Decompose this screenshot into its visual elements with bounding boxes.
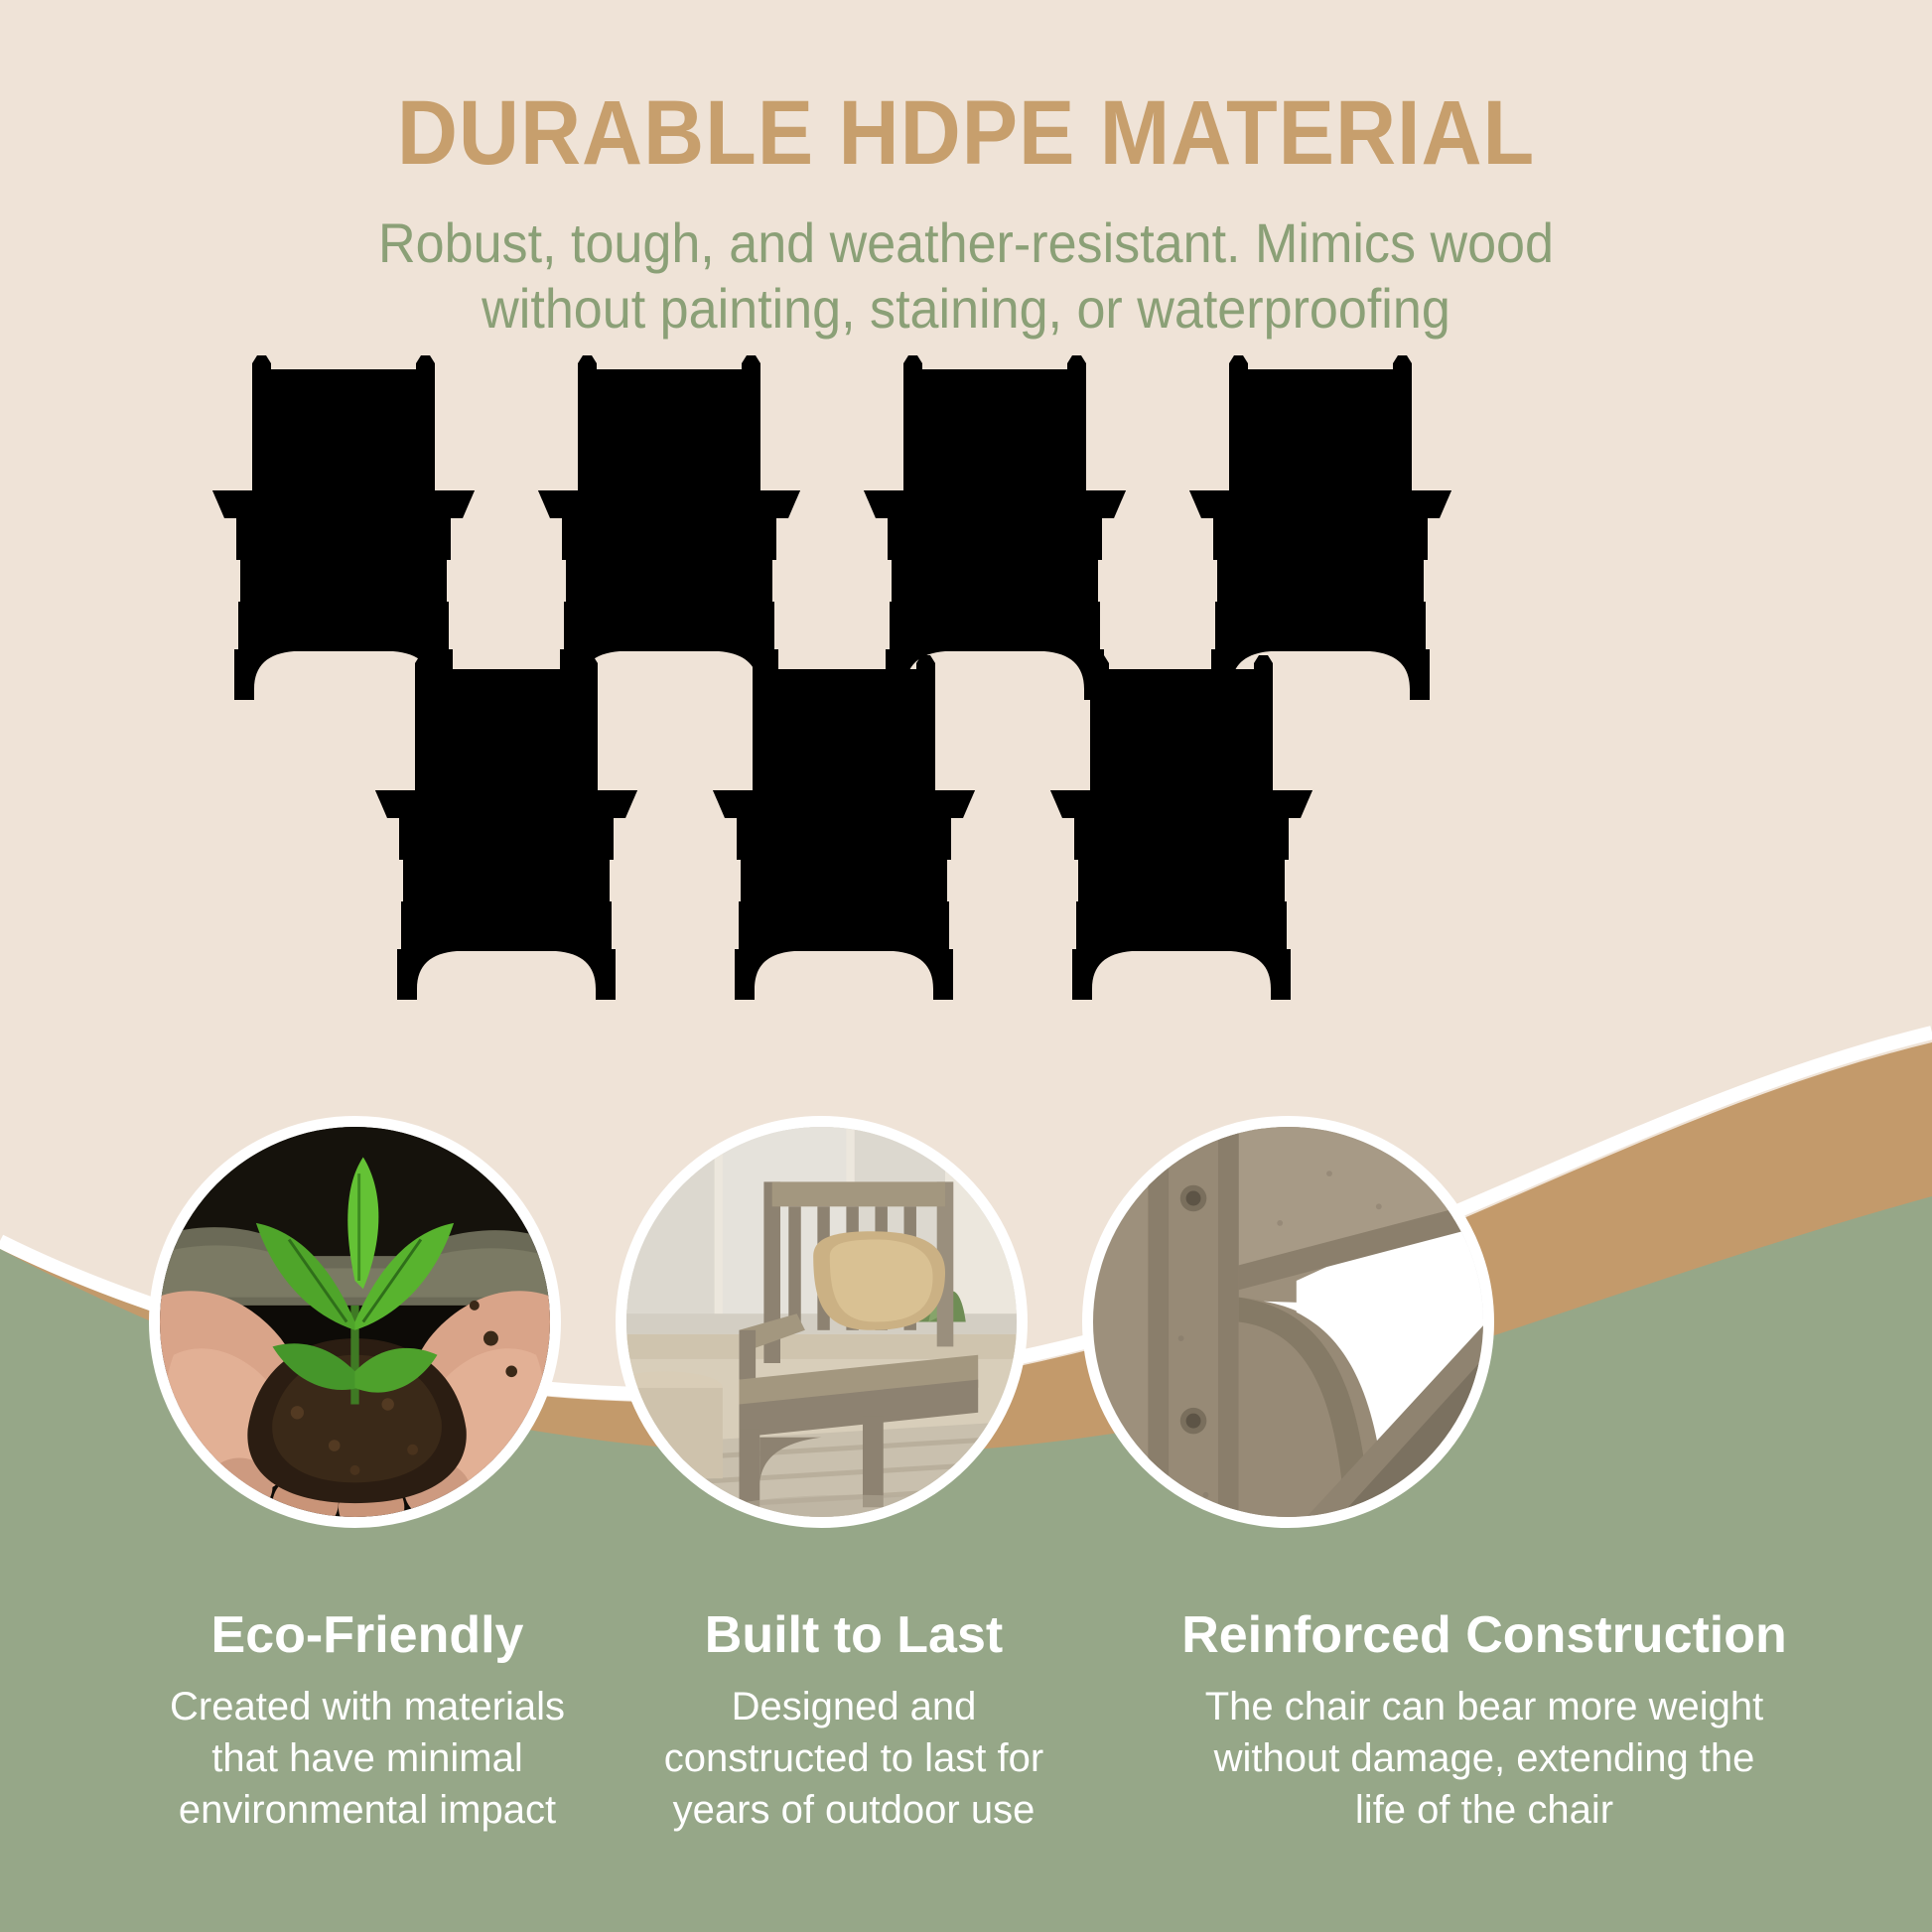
- seedling-in-hands-photo: [149, 1116, 561, 1528]
- feature-caption-eco-friendly: Eco-Friendly Created with materials that…: [109, 1608, 625, 1836]
- feature-body-line: The chair can bear more weight: [1092, 1681, 1876, 1732]
- subtitle-line-1: Robust, tough, and weather-resistant. Mi…: [378, 211, 1554, 274]
- feature-body-line: Designed and: [635, 1681, 1072, 1732]
- chair-swatch-brown[interactable]: .brown .bd{fill:#5b3a33}.brown .sh{fill:…: [520, 331, 818, 658]
- feature-body-reinforced-construction: The chair can bear more weight without d…: [1092, 1663, 1876, 1836]
- feature-title-built-to-last: Built to Last: [635, 1608, 1072, 1663]
- patio-chair-photo: [616, 1116, 1028, 1528]
- feature-body-eco-friendly: Created with materials that have minimal…: [109, 1663, 625, 1836]
- chair-swatch-black[interactable]: .black .bd{fill:#232323}.black .sh{fill:…: [195, 331, 492, 658]
- feature-body-line: life of the chair: [1092, 1784, 1876, 1836]
- feature-caption-reinforced-construction: Reinforced Construction The chair can be…: [1092, 1608, 1876, 1836]
- infographic-canvas: DURABLE HDPE MATERIAL Robust, tough, and…: [0, 0, 1932, 1932]
- chair-swatch-dark-gray[interactable]: .dgray .bd{fill:#434d51}.dgray .sh{fill:…: [846, 331, 1144, 658]
- chair-swatch-white[interactable]: .wht .bd{fill:#fafafa}.wht .sh{fill:#e8e…: [695, 630, 993, 958]
- feature-body-built-to-last: Designed and constructed to last for yea…: [635, 1663, 1072, 1836]
- feature-body-line: that have minimal: [109, 1732, 625, 1784]
- feature-body-line: environmental impact: [109, 1784, 625, 1836]
- feature-caption-row: Eco-Friendly Created with materials that…: [0, 1608, 1932, 1932]
- subtitle-line-2: without painting, staining, or waterproo…: [68, 276, 1864, 342]
- feature-image-row: [0, 1140, 1932, 1567]
- feature-title-reinforced-construction: Reinforced Construction: [1092, 1608, 1876, 1663]
- reinforced-joint-closeup-photo: [1082, 1116, 1494, 1528]
- page-title: DURABLE HDPE MATERIAL: [77, 0, 1855, 179]
- feature-title-eco-friendly: Eco-Friendly: [109, 1608, 625, 1663]
- feature-body-line: years of outdoor use: [635, 1784, 1072, 1836]
- feature-body-line: constructed to last for: [635, 1732, 1072, 1784]
- page-subtitle: Robust, tough, and weather-resistant. Mi…: [68, 179, 1864, 342]
- feature-image-eco-friendly[interactable]: [149, 1116, 561, 1528]
- feature-image-reinforced-construction[interactable]: [1082, 1116, 1494, 1528]
- feature-body-line: without damage, extending the: [1092, 1732, 1876, 1784]
- chair-swatch-turquoise[interactable]: .turq .bd{fill:#31b7c0}.turq .sh{fill:#2…: [357, 630, 655, 958]
- chair-swatch-navy-blue[interactable]: .navy .bd{fill:#2e3c5e}.navy .sh{fill:#2…: [1172, 331, 1469, 658]
- chair-swatch-weathered-taupe[interactable]: .taupe .bd{fill:#9b8d79}.taupe .sh{fill:…: [1033, 630, 1330, 958]
- feature-caption-built-to-last: Built to Last Designed and constructed t…: [635, 1608, 1072, 1836]
- feature-image-built-to-last[interactable]: [616, 1116, 1028, 1528]
- feature-body-line: Created with materials: [109, 1681, 625, 1732]
- header: DURABLE HDPE MATERIAL Robust, tough, and…: [0, 0, 1932, 342]
